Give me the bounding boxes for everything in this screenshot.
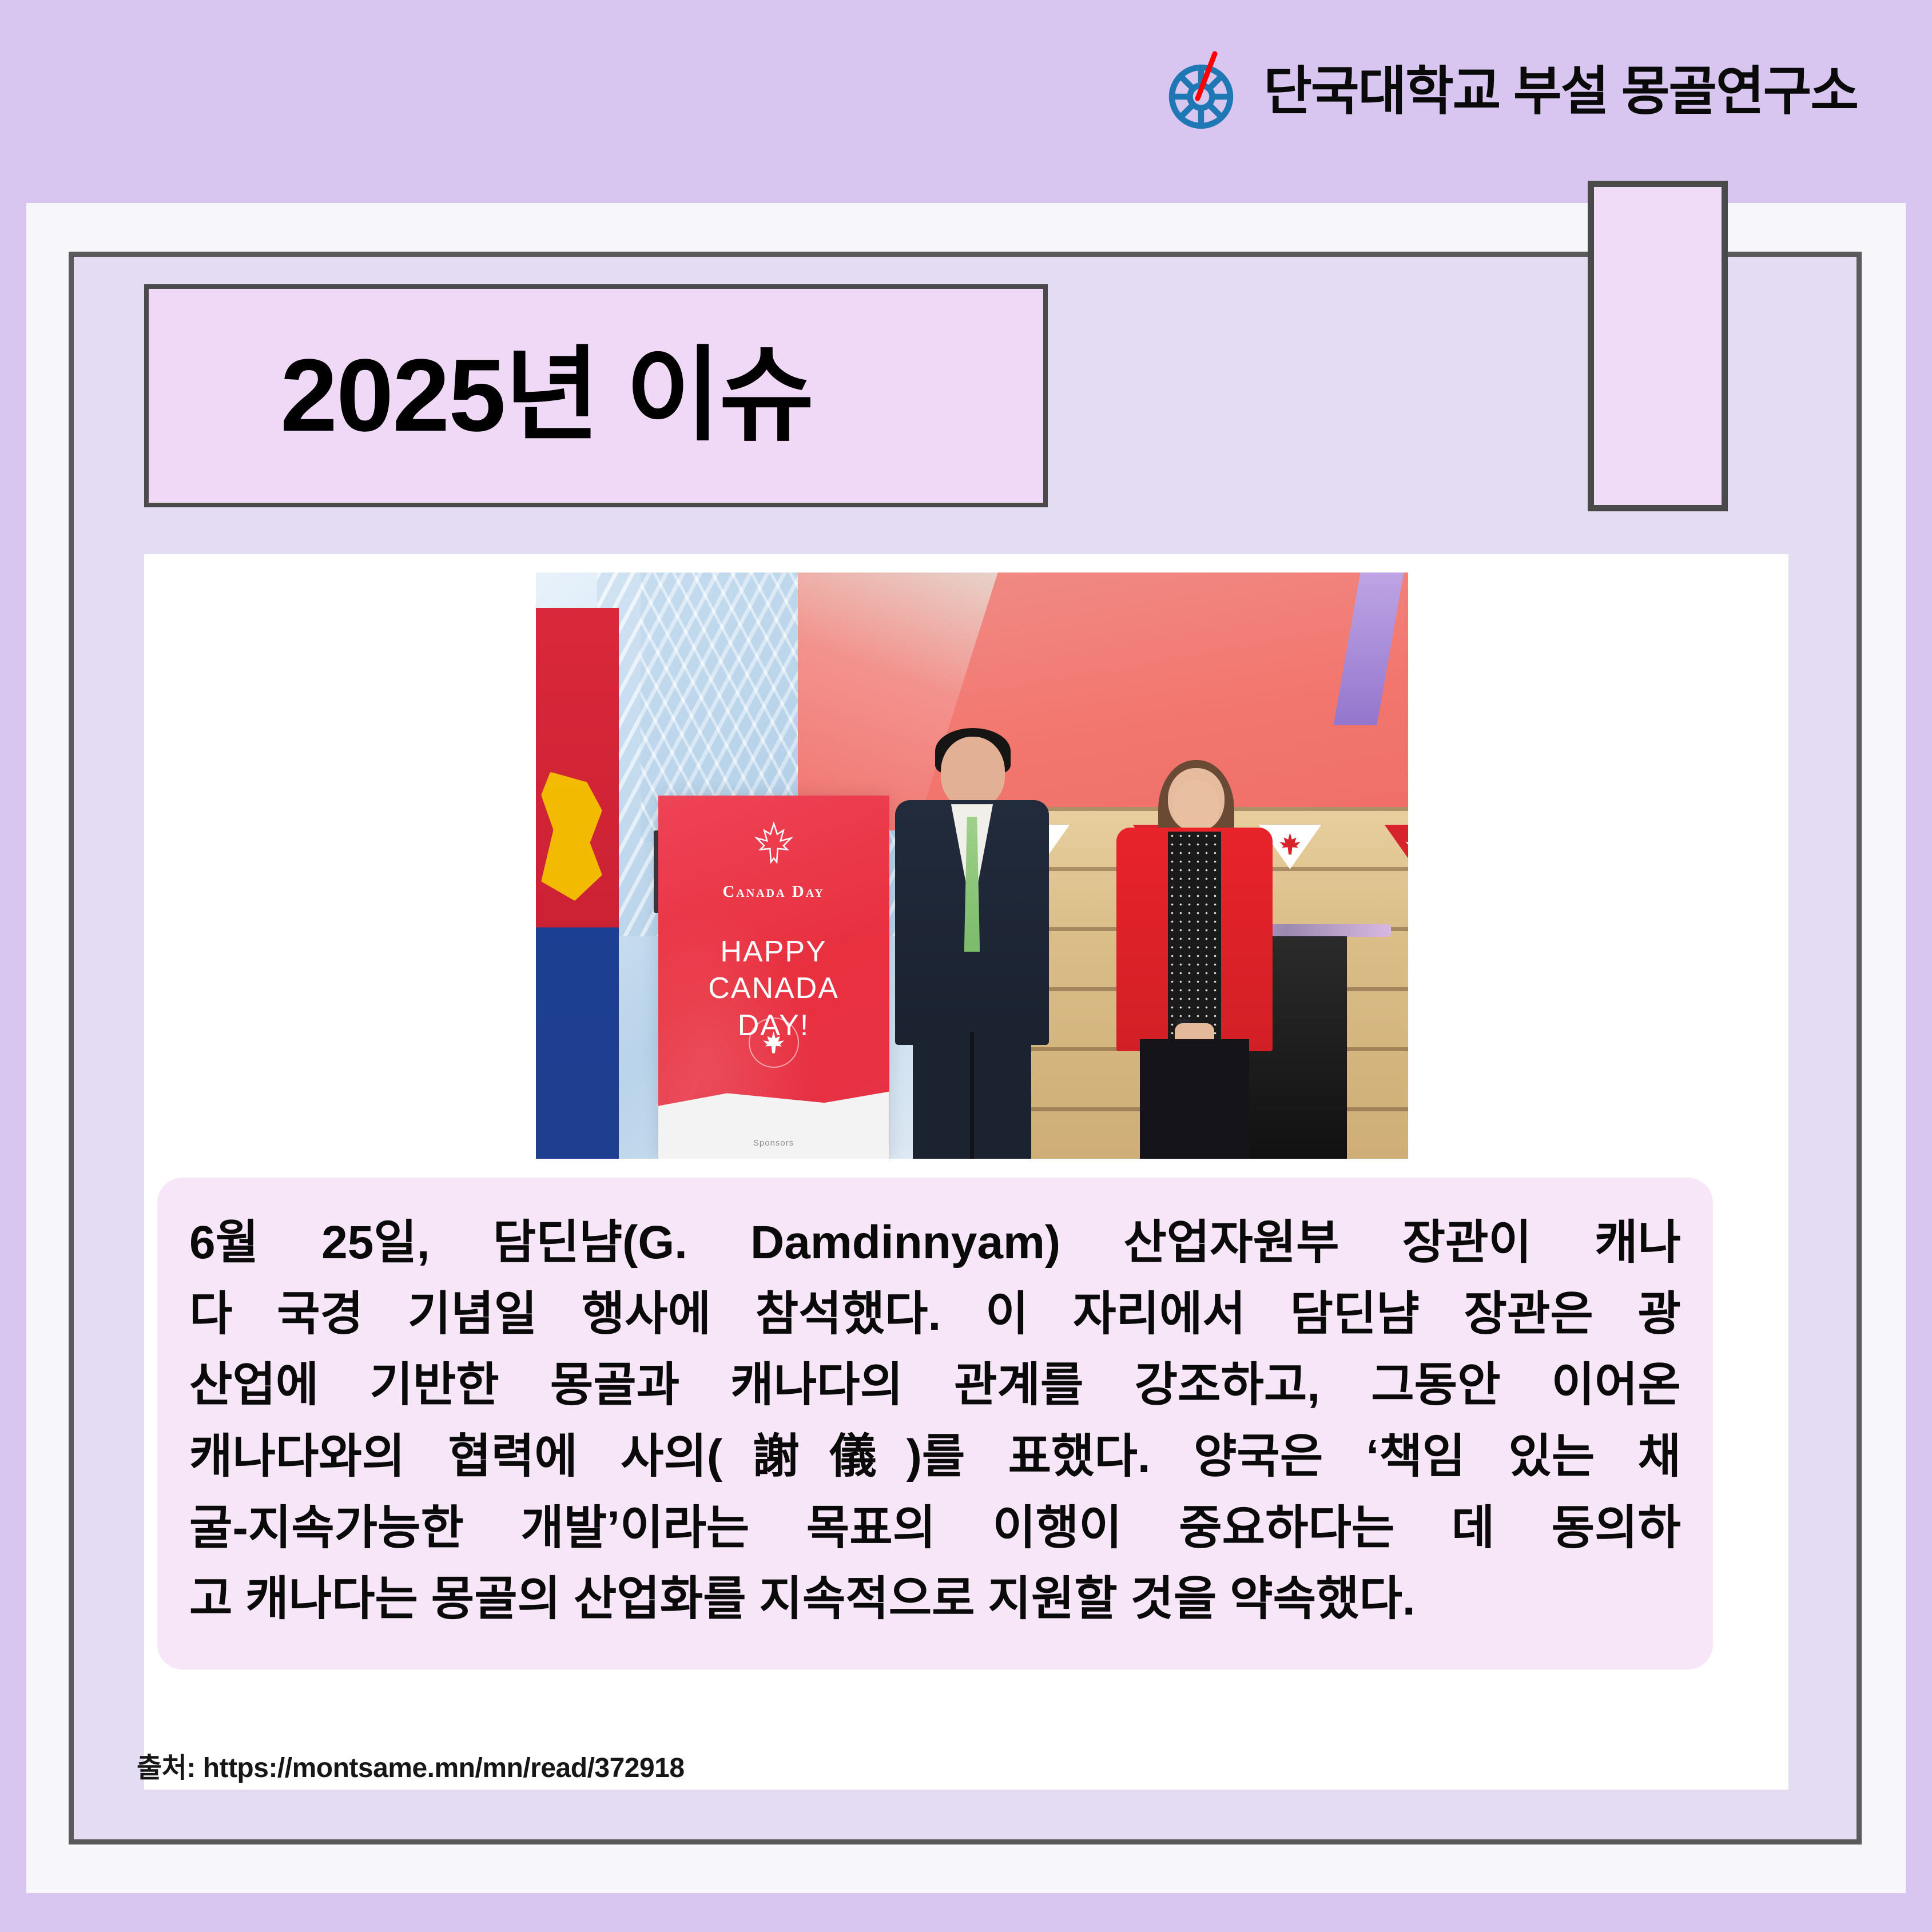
institute-name: 단국대학교 부설 몽골연구소 xyxy=(1263,65,1858,118)
person2-face xyxy=(1173,780,1219,832)
article-line: 캐나다와의 협력에 사의(謝儀)를 표했다. 양국은 ‘책임 있는 채 xyxy=(189,1421,1681,1493)
person-ambassador xyxy=(1112,760,1278,1159)
banner-seal-icon xyxy=(749,1017,799,1068)
banner-logo-caption: Canada Day xyxy=(658,882,889,901)
person2-blouse-dots xyxy=(1168,832,1221,1047)
page-title: 2025년 이슈 xyxy=(280,344,813,447)
page-header: 단국대학교 부설 몽골연구소 xyxy=(0,0,1932,183)
maple-leaf-icon xyxy=(749,821,799,869)
article-line: 고 캐나다는 몽골의 산업화를 지속적으로 지원할 것을 약속했다. xyxy=(189,1564,1681,1635)
canada-day-banner: Canada Day HAPPY CANADA DAY! Sponsors xyxy=(658,796,889,1159)
person1-leg-split xyxy=(970,1032,973,1159)
institute-brand: 단국대학교 부설 몽골연구소 xyxy=(1158,49,1858,134)
article-line: 산업에 기반한 몽골과 캐나다의 관계를 강조하고, 그동안 이어온 xyxy=(189,1350,1681,1421)
person1-head xyxy=(941,737,1005,808)
article-line: 다 국경 기념일 행사에 참석했다. 이 자리에서 담딘냠 장관은 광 xyxy=(189,1279,1681,1350)
person2-trousers xyxy=(1140,1039,1249,1159)
article-text-box: 6월 25일, 담딘냠(G. Damdinnyam) 산업자원부 장관이 캐나 … xyxy=(157,1178,1713,1669)
canada-day-event-photo: Canada Day HAPPY CANADA DAY! Sponsors xyxy=(536,573,1408,1159)
page-title-box: 2025년 이슈 xyxy=(144,284,1048,507)
article-line: 굴-지속가능한 개발’이라는 목표의 이행이 중요하다는 데 동의하 xyxy=(189,1493,1681,1564)
mongol-wheel-icon xyxy=(1158,49,1244,134)
content-card: Canada Day HAPPY CANADA DAY! Sponsors xyxy=(144,554,1788,1790)
source-url: 출처: https://montsame.mn/mn/read/372918 xyxy=(137,1745,685,1785)
decorative-accent-rect xyxy=(1588,181,1728,511)
article-line: 6월 25일, 담딘냠(G. Damdinnyam) 산업자원부 장관이 캐나 xyxy=(189,1207,1681,1279)
person-minister xyxy=(885,737,1059,1159)
banner-sponsor-text: Sponsors xyxy=(658,1138,889,1148)
